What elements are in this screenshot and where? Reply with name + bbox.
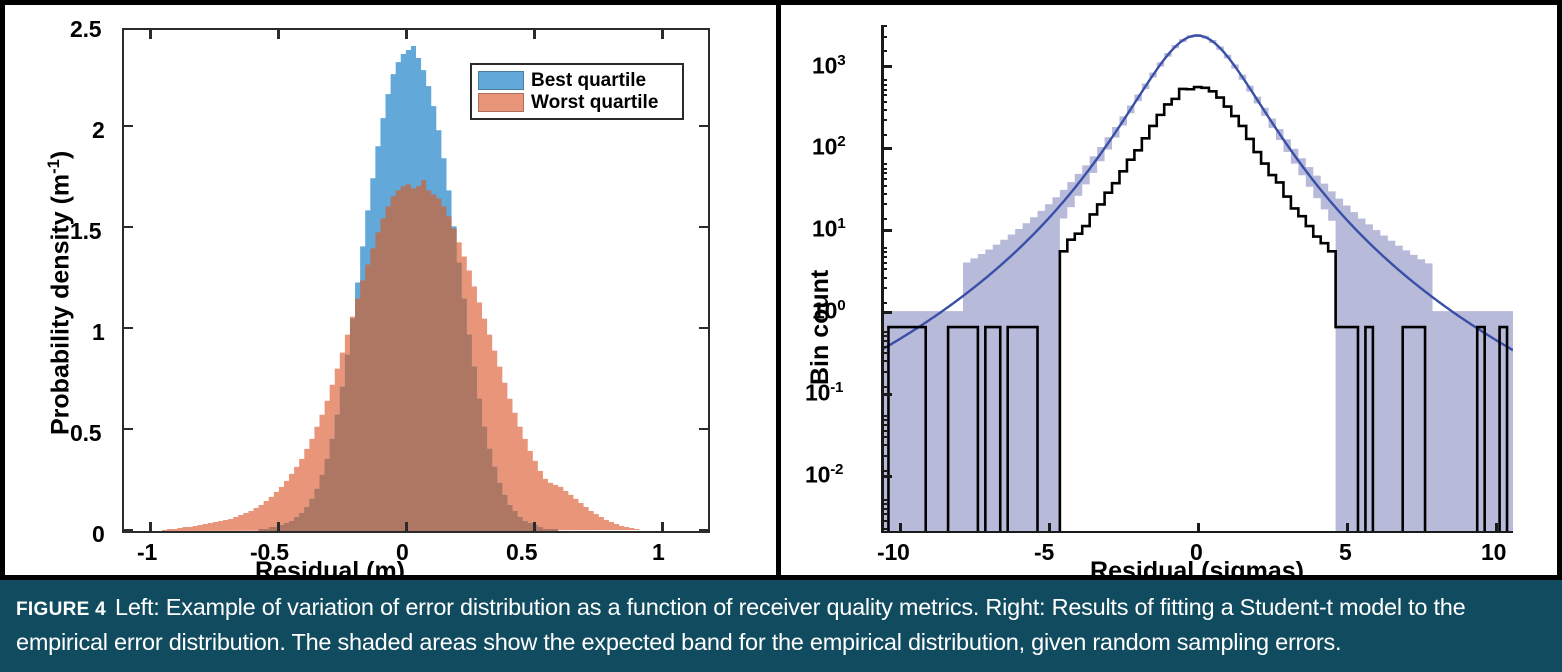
figure-panels: Probability density (m-1) 0 0.5 1 1.5 2 … [0, 0, 1562, 580]
y-tick-label-1: 1 [92, 319, 105, 346]
x-tick-top-minus0.5 [277, 30, 280, 39]
right-x-tick-0 [1197, 523, 1200, 533]
x-tick-top-0.5 [533, 30, 536, 39]
y-tick-label-1e1: 101 [812, 215, 845, 243]
right-y-minor-tick [881, 36, 887, 38]
y-tick-right-0.5 [699, 428, 708, 431]
y-tick-label-2.5: 2.5 [70, 16, 101, 43]
right-panel-plot-box [881, 25, 1513, 533]
figure-number-tag: FIGURE 4 [16, 599, 106, 620]
right-x-tick-label-minus5: -5 [1034, 539, 1054, 566]
right-y-minor-tick [881, 203, 887, 205]
y-tick-exponent-1e2: 2 [837, 133, 845, 150]
right-y-minor-tick [881, 134, 887, 136]
right-panel-y-axis-title: Bin count [806, 270, 835, 385]
x-tick-bottom-minus1 [149, 522, 152, 531]
right-y-minor-tick [881, 360, 887, 362]
y-tick-label-1.5: 1.5 [70, 218, 101, 245]
y-tick-left-1 [124, 327, 133, 330]
x-tick-label-1: 1 [652, 539, 665, 566]
left-panel: Probability density (m-1) 0 0.5 1 1.5 2 … [5, 5, 781, 575]
right-y-minor-tick [881, 424, 887, 426]
right-x-tick-minus10 [899, 523, 902, 533]
right-y-minor-tick [881, 371, 887, 373]
right-x-tick-label-10: 10 [1481, 539, 1506, 566]
y-tick-left-2 [124, 125, 133, 128]
y-tick-label-0: 0 [92, 521, 105, 548]
right-y-minor-tick [881, 172, 887, 174]
right-y-minor-tick [881, 352, 887, 354]
y-tick-mantissa-1e2: 10 [812, 134, 837, 160]
right-y-tick-1e2 [881, 147, 892, 150]
y-tick-right-2 [699, 125, 708, 128]
right-y-minor-tick [881, 430, 887, 432]
right-y-minor-tick [881, 256, 887, 258]
y-tick-label-1e-2: 10-2 [805, 461, 843, 489]
y-tick-right-0 [699, 529, 708, 532]
y-tick-mantissa-1e0: 10 [812, 298, 837, 324]
y-tick-label-0.5: 0.5 [70, 420, 101, 447]
y-tick-left-0 [124, 529, 133, 532]
y-axis-title-text: Probability density (m [46, 174, 74, 435]
right-y-minor-tick [881, 101, 887, 103]
right-y-minor-tick [881, 444, 887, 446]
right-y-minor-tick [881, 415, 887, 417]
right-panel-chart-svg [881, 25, 1513, 533]
y-tick-left-1.5 [124, 226, 133, 229]
legend-item-best-quartile: Best quartile [478, 69, 676, 91]
right-y-minor-tick [881, 168, 887, 170]
left-panel-plot-box: Best quartile Worst quartile [122, 28, 710, 533]
right-y-minor-tick [881, 119, 887, 121]
right-y-tick-1e-2 [881, 475, 892, 478]
right-y-minor-tick [881, 499, 887, 501]
expected-band-shaded-area [881, 34, 1513, 533]
x-tick-bottom-1 [661, 522, 664, 531]
right-y-minor-tick [881, 25, 887, 27]
right-y-minor-tick [881, 251, 887, 253]
y-tick-label-1e2: 102 [812, 133, 845, 161]
right-y-minor-tick [881, 528, 887, 530]
right-y-minor-tick [881, 84, 887, 86]
y-tick-label-1e0: 100 [812, 297, 845, 325]
right-y-minor-tick [881, 470, 887, 472]
right-y-minor-tick [881, 89, 887, 91]
right-y-minor-tick [881, 193, 887, 195]
legend: Best quartile Worst quartile [470, 63, 684, 120]
right-y-minor-tick [881, 455, 887, 457]
figure-caption: FIGURE 4Left: Example of variation of er… [16, 591, 1546, 658]
x-tick-top-minus1 [149, 30, 152, 39]
y-tick-exponent-1e-2: -2 [830, 461, 843, 478]
right-y-minor-tick [881, 346, 887, 348]
legend-label-best-quartile: Best quartile [531, 71, 646, 90]
right-x-tick-label-5: 5 [1339, 539, 1352, 566]
right-y-minor-tick [881, 335, 887, 337]
right-panel-plot-area [881, 25, 1513, 533]
right-y-minor-tick [881, 79, 887, 81]
right-y-minor-tick [881, 178, 887, 180]
y-tick-exponent-1e-1: -1 [830, 379, 843, 396]
y-tick-mantissa-1e-1: 10 [805, 380, 830, 406]
y-tick-left-0.5 [124, 428, 133, 431]
y-tick-mantissa-1e1: 10 [812, 216, 837, 242]
right-panel: Bin count 103 102 101 100 10-1 10-2 [781, 5, 1557, 575]
right-y-minor-tick [881, 513, 887, 515]
x-tick-bottom-0.5 [533, 522, 536, 531]
right-y-tick-1e-1 [881, 393, 892, 396]
right-y-minor-tick [881, 163, 887, 165]
figure-container: Probability density (m-1) 0 0.5 1 1.5 2 … [0, 0, 1562, 672]
right-y-minor-tick [881, 508, 887, 510]
right-y-minor-tick [881, 185, 887, 187]
legend-label-worst-quartile: Worst quartile [531, 93, 658, 112]
right-y-minor-tick [881, 340, 887, 342]
right-y-minor-tick [881, 109, 887, 111]
y-tick-mantissa-1e3: 10 [812, 53, 837, 79]
figure-caption-body: Left: Example of variation of error dist… [16, 594, 1465, 655]
y-tick-label-1e-1: 10-1 [805, 379, 843, 407]
right-y-minor-tick [881, 436, 887, 438]
right-y-minor-tick [881, 94, 887, 96]
x-tick-bottom-minus0.5 [277, 522, 280, 531]
y-tick-label-1e3: 103 [812, 52, 845, 80]
right-y-tick-1e3 [881, 65, 892, 68]
x-tick-top-1 [661, 30, 664, 39]
right-y-minor-tick [881, 50, 887, 52]
y-tick-right-1 [699, 327, 708, 330]
y-tick-right-1.5 [699, 226, 708, 229]
x-tick-label-minus1: -1 [137, 539, 157, 566]
right-x-tick-5 [1346, 523, 1349, 533]
right-y-minor-tick [881, 218, 887, 220]
right-y-minor-tick [881, 386, 887, 388]
legend-swatch-worst-quartile [478, 93, 524, 112]
y-tick-exponent-1e0: 0 [837, 297, 845, 314]
x-tick-bottom-0 [405, 522, 408, 531]
right-y-minor-tick [881, 277, 887, 279]
legend-item-worst-quartile: Worst quartile [478, 92, 676, 114]
y-tick-label-2: 2 [92, 117, 105, 144]
right-y-minor-tick [881, 503, 887, 505]
right-y-minor-tick [881, 247, 887, 249]
legend-swatch-best-quartile [478, 71, 524, 90]
y-tick-mantissa-1e-2: 10 [805, 462, 830, 488]
right-y-tick-1e0 [881, 311, 892, 314]
y-tick-exponent-1e3: 3 [837, 52, 845, 69]
right-y-minor-tick [881, 331, 887, 333]
y-axis-title-exponent: -1 [45, 159, 63, 174]
figure-caption-bar: FIGURE 4Left: Example of variation of er… [0, 580, 1562, 672]
left-panel-y-axis-title: Probability density (m-1) [45, 151, 75, 435]
right-y-minor-tick [881, 520, 887, 522]
right-y-minor-tick [881, 262, 887, 264]
right-x-tick-label-minus10: -10 [877, 539, 910, 566]
right-x-tick-minus5 [1048, 523, 1051, 533]
right-y-minor-tick [881, 287, 887, 289]
right-x-tick-10 [1495, 523, 1498, 533]
right-y-minor-tick [881, 302, 887, 304]
right-y-tick-1e1 [881, 229, 892, 232]
histogram-overlap-region [142, 180, 650, 531]
right-y-minor-tick [881, 419, 887, 421]
y-tick-exponent-1e1: 1 [837, 215, 845, 232]
x-tick-label-0.5: 0.5 [506, 539, 537, 566]
y-axis-title-tail: ) [46, 151, 74, 159]
right-y-minor-tick [881, 268, 887, 270]
x-tick-top-0 [405, 30, 408, 39]
